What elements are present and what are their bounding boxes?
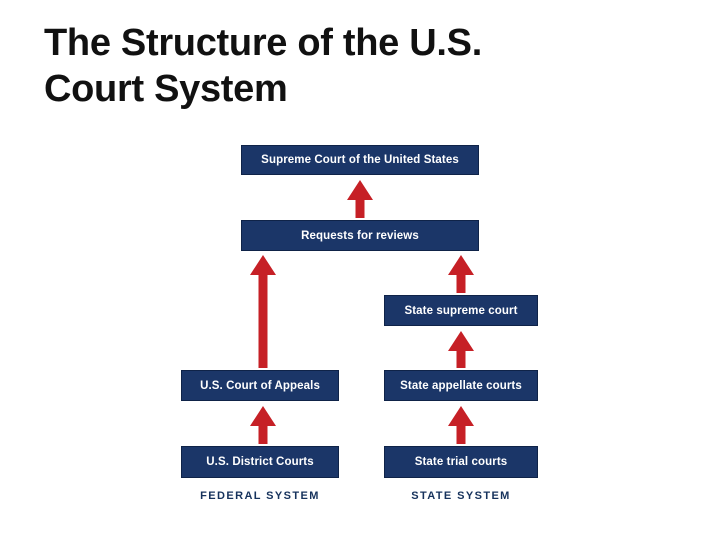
caption-state-system: STATE SYSTEM — [384, 490, 538, 502]
node-state-trial-courts[interactable]: State trial courts — [384, 446, 538, 478]
node-label: U.S. Court of Appeals — [200, 380, 320, 392]
node-label: State trial courts — [415, 456, 508, 468]
up-arrow-icon — [250, 255, 276, 368]
arrow-requests-to-supreme-court — [347, 180, 373, 218]
up-arrow-icon — [250, 406, 276, 444]
up-arrow-icon — [448, 331, 474, 368]
node-requests-for-reviews[interactable]: Requests for reviews — [241, 220, 479, 251]
up-arrow-icon — [448, 255, 474, 293]
node-label: U.S. District Courts — [206, 456, 313, 468]
node-state-appellate-courts[interactable]: State appellate courts — [384, 370, 538, 401]
node-label: Requests for reviews — [301, 230, 419, 242]
arrow-state-trial-to-state-appellate — [448, 406, 474, 444]
arrow-state-supreme-court-to-requests — [448, 255, 474, 293]
node-supreme-court-of-the-united-states[interactable]: Supreme Court of the United States — [241, 145, 479, 175]
node-label: State supreme court — [404, 305, 517, 317]
node-label: Supreme Court of the United States — [261, 154, 459, 166]
up-arrow-icon — [347, 180, 373, 218]
node-us-court-of-appeals[interactable]: U.S. Court of Appeals — [181, 370, 339, 401]
node-state-supreme-court[interactable]: State supreme court — [384, 295, 538, 326]
node-label: State appellate courts — [400, 380, 522, 392]
up-arrow-icon — [448, 406, 474, 444]
slide-canvas: The Structure of the U.S. Court System S… — [0, 0, 720, 539]
arrow-court-of-appeals-to-requests — [250, 255, 276, 368]
caption-federal-system: FEDERAL SYSTEM — [181, 490, 339, 502]
node-us-district-courts[interactable]: U.S. District Courts — [181, 446, 339, 478]
arrow-state-appellate-to-state-supreme — [448, 331, 474, 368]
page-title: The Structure of the U.S. Court System — [44, 20, 664, 112]
arrow-district-courts-to-court-of-appeals — [250, 406, 276, 444]
